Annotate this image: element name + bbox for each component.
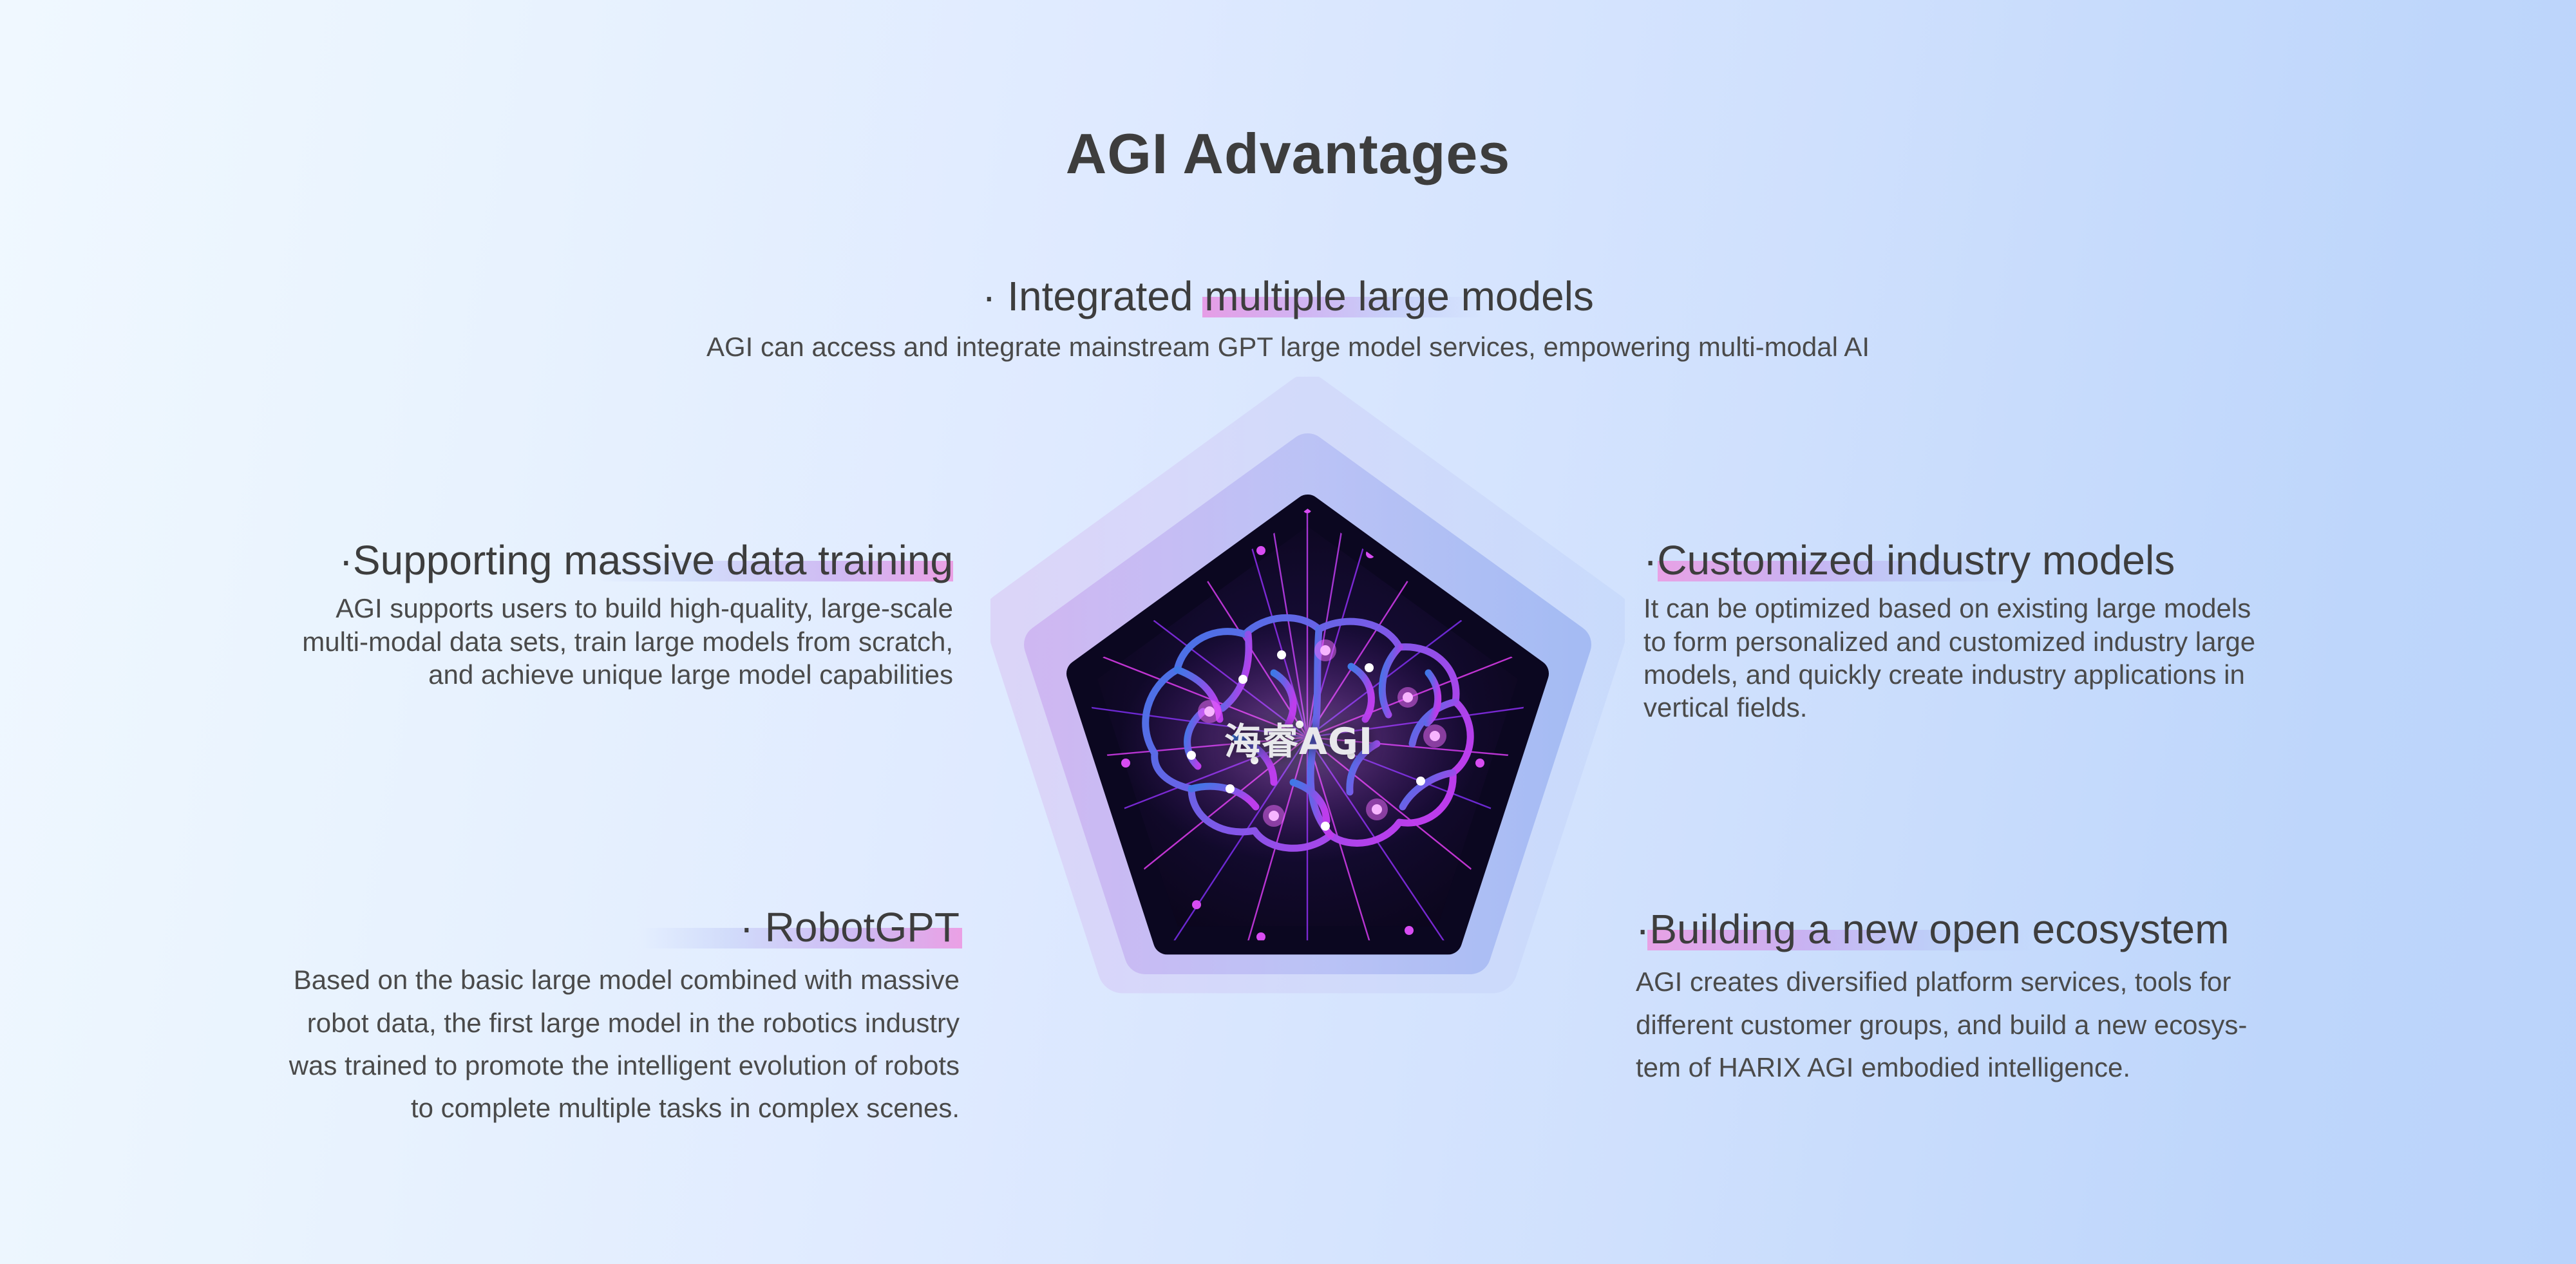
- advantage-robotgpt: · RobotGPT Based on the basic large mode…: [26, 905, 960, 1130]
- advantage-building-a-new-open-ecosystem: ·Building a new open ecosystem AGI creat…: [1636, 907, 2550, 1089]
- advantage-body: It can be optimized based on existing la…: [1643, 592, 2545, 724]
- advantage-supporting-massive-data-training: ·Supporting massive data training AGI su…: [39, 538, 953, 691]
- advantage-body: AGI can access and integrate mainstream …: [0, 330, 2576, 363]
- advantage-heading: · RobotGPT: [740, 905, 960, 950]
- center-pentagon-graphic: 海睿AGI: [990, 377, 1625, 1095]
- pentagon-svg: [990, 377, 1625, 1095]
- advantage-body: AGI supports users to build high-quality…: [39, 592, 953, 691]
- advantage-body: Based on the basic large model combined …: [26, 959, 960, 1129]
- advantage-body: AGI creates diversified platform service…: [1636, 961, 2550, 1089]
- advantage-heading: ·Building a new open ecosystem: [1636, 907, 2229, 952]
- advantage-heading: ·Supporting massive data training: [339, 538, 953, 583]
- advantage-heading: · Integrated multiple large models: [982, 274, 1594, 319]
- slide-canvas: AGI Advantages: [0, 0, 2576, 1264]
- advantage-heading: ·Customized industry models: [1643, 538, 2175, 583]
- advantage-integrated-multiple-large-models: · Integrated multiple large models AGI c…: [0, 274, 2576, 364]
- advantage-customized-industry-models: ·Customized industry models It can be op…: [1643, 538, 2545, 724]
- page-title: AGI Advantages: [0, 121, 2576, 187]
